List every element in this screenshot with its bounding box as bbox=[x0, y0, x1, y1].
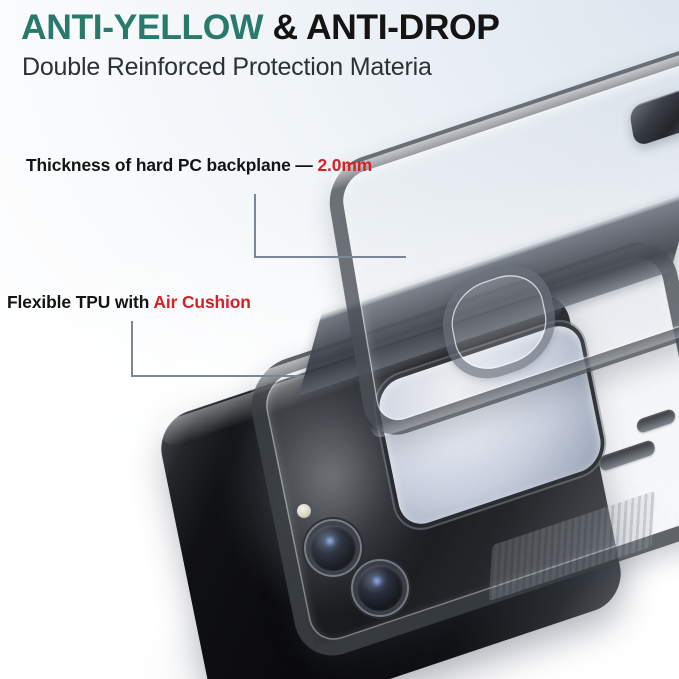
callout-air-cushion-label: Flexible TPU with bbox=[7, 292, 153, 312]
headline-base-text: & ANTI-DROP bbox=[263, 7, 499, 47]
callout-air-cushion: Flexible TPU with Air Cushion bbox=[7, 292, 251, 313]
product-poster: ANTI-YELLOW & ANTI-DROP Double Reinforce… bbox=[0, 0, 679, 679]
callout-air-cushion-value: Air Cushion bbox=[153, 292, 250, 312]
page-title: ANTI-YELLOW & ANTI-DROP bbox=[21, 8, 500, 48]
product-illustration bbox=[0, 0, 679, 679]
callout-thickness-value: 2.0mm bbox=[317, 155, 372, 175]
callout-thickness-label: Thickness of hard PC backplane — bbox=[26, 155, 317, 175]
page-subtitle: Double Reinforced Protection Materia bbox=[22, 53, 432, 82]
headline-accent-text: ANTI-YELLOW bbox=[21, 7, 263, 47]
callout-thickness: Thickness of hard PC backplane — 2.0mm bbox=[26, 155, 372, 176]
